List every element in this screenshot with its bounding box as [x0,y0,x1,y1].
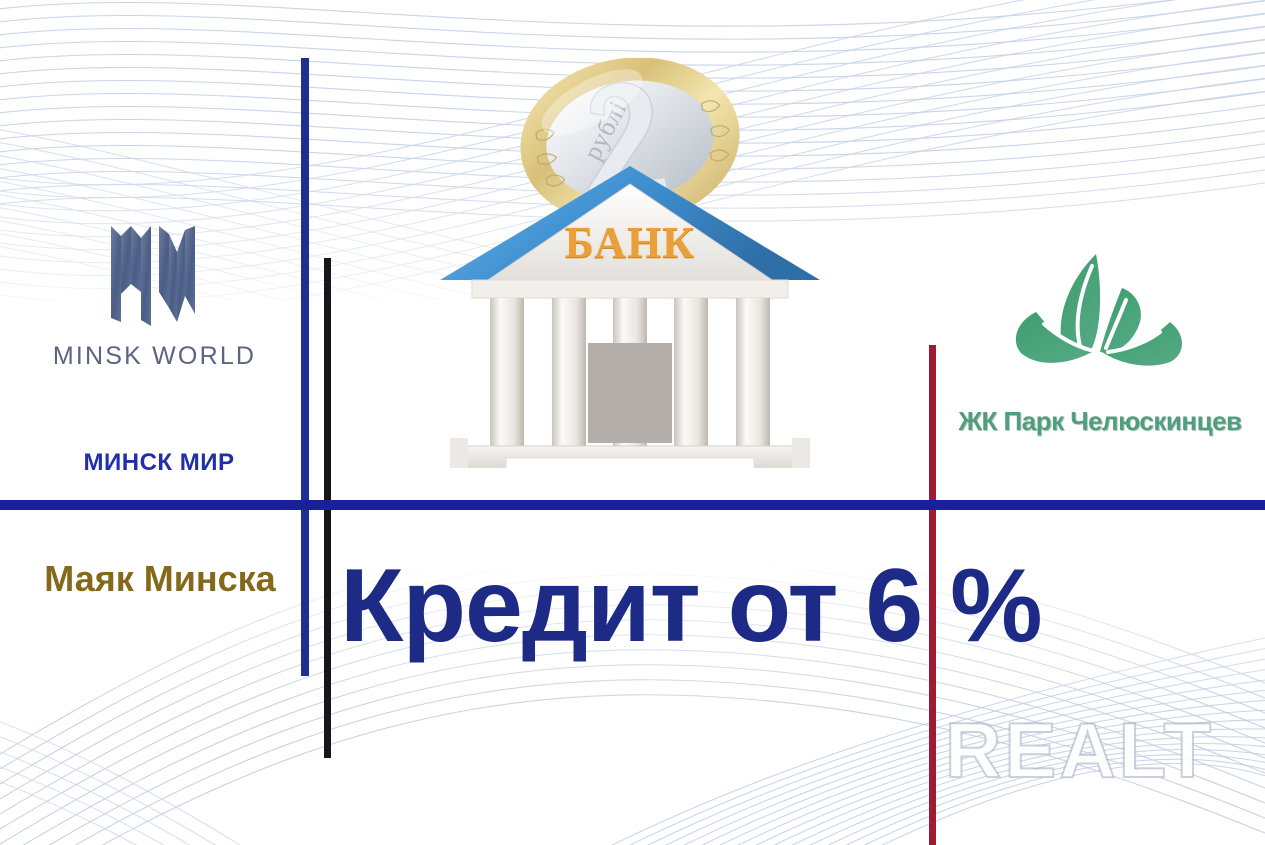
minsk-world-wordmark: MINSK WORLD [52,342,257,371]
divider-vertical-blue [301,58,309,676]
divider-horizontal-blue [0,500,1265,510]
mayak-minska-label: Маяк Минска [40,558,280,600]
headline-credit-rate: Кредит от 6 % [340,552,940,661]
park-chelyuskintsev-name: ЖК Парк Челюскинцев [950,406,1250,437]
mw-monogram-icon [101,222,209,330]
park-chelyuskintsev-logo: ЖК Парк Челюскинцев [950,250,1250,437]
green-leaves-icon [1000,250,1200,400]
bank-building-with-coin-icon: рублі [420,58,840,468]
credit-promo-banner: MINSK WORLD МИНСК МИР Маяк Минска [0,0,1265,845]
minsk-world-logo: MINSK WORLD [52,222,257,371]
realt-watermark: REALT [945,705,1214,796]
minsk-mir-subtitle: МИНСК МИР [44,449,274,477]
